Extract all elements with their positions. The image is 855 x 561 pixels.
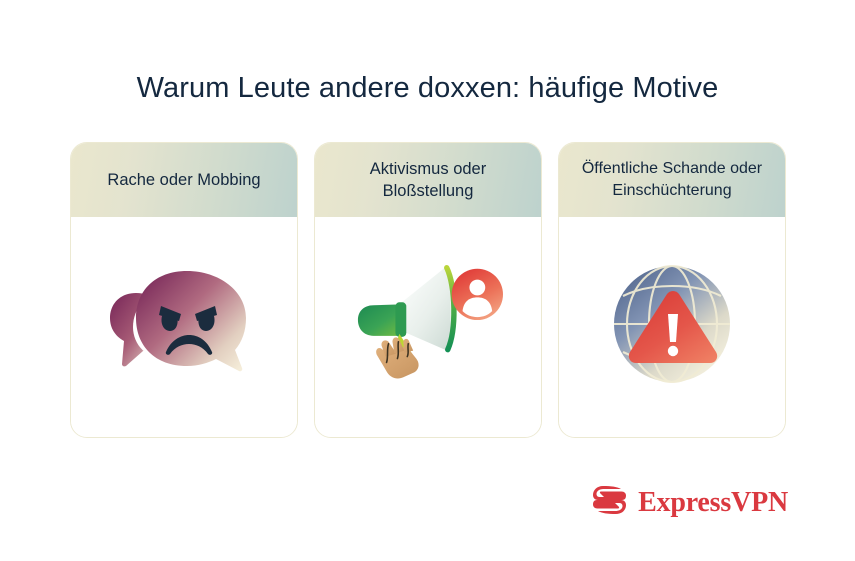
- card-body: [559, 217, 785, 437]
- angry-speech-bubbles-icon: [109, 254, 259, 394]
- motive-card-public-shaming: Öffentliche Schande oder Einschüchterung: [558, 142, 786, 438]
- motive-card-revenge: Rache oder Mobbing: [70, 142, 298, 438]
- megaphone-with-person-icon: [353, 254, 503, 394]
- infographic-page: Warum Leute andere doxxen: häufige Motiv…: [0, 0, 855, 561]
- expressvpn-logo: ExpressVPN: [592, 484, 788, 521]
- card-header: Aktivismus oder Bloßstellung: [315, 143, 541, 217]
- card-list: Rache oder Mobbing: [70, 142, 786, 438]
- globe-warning-icon: [597, 254, 747, 394]
- card-title: Rache oder Mobbing: [107, 169, 260, 191]
- page-title: Warum Leute andere doxxen: häufige Motiv…: [0, 71, 855, 106]
- card-header: Rache oder Mobbing: [71, 143, 297, 217]
- motive-card-activism: Aktivismus oder Bloßstellung: [314, 142, 542, 438]
- card-title: Öffentliche Schande oder Einschüchterung: [567, 158, 777, 201]
- card-body: [71, 217, 297, 437]
- expressvpn-logo-mark: [592, 484, 627, 521]
- expressvpn-wordmark: ExpressVPN: [638, 487, 788, 519]
- card-header: Öffentliche Schande oder Einschüchterung: [559, 143, 785, 217]
- card-title: Aktivismus oder Bloßstellung: [323, 158, 533, 203]
- card-body: [315, 217, 541, 437]
